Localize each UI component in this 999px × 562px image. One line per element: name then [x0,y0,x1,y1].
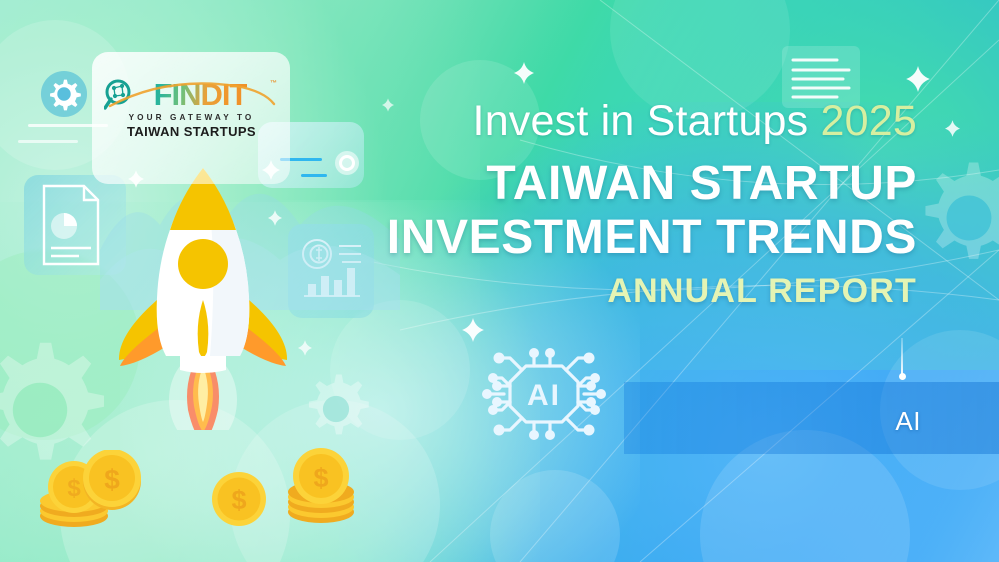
ai-chip-circuit-icon: AI [482,338,606,455]
sparkle-icon [268,210,282,226]
banner-canvas: $ $ $ $ [0,0,999,562]
coin-stack-right: $ [282,446,360,531]
ai-chip-label: AI [527,379,561,412]
decor-line [18,140,78,143]
gear-mid-left-icon [295,368,377,455]
coin-stack-left: $ $ [38,450,148,545]
magnifier-network-icon [104,79,138,111]
logo-tagline-top: YOUR GATEWAY TO [104,113,279,122]
gear-badge-top-left [40,70,88,123]
svg-text:$: $ [67,475,81,502]
sparkle-icon [906,66,930,92]
coin-single-center: $ [210,470,268,533]
headline-year: 2025 [821,97,917,145]
headline-block: Invest in Startups 2025 TAIWAN STARTUP I… [361,100,917,311]
ai-pointer-dot [899,373,906,380]
sparkle-icon [128,170,144,188]
sparkle-icon [945,120,960,137]
sparkle-icon [514,62,534,84]
headline-eyebrow: Invest in Startups [473,97,809,145]
gear-large-right-icon [903,152,999,289]
logo[interactable]: FINDIT ™ YOUR GATEWAY TO TAIWAN STARTUPS [104,78,279,140]
logo-trademark: ™ [270,80,277,87]
rocket-icon [112,160,294,435]
logo-name: FINDIT [136,77,248,113]
headline-eyebrow-row: Invest in Startups 2025 [361,100,917,143]
logo-wordmark: FINDIT ™ [104,78,279,112]
svg-text:$: $ [104,464,120,495]
sparkle-icon [262,160,280,180]
svg-text:$: $ [231,485,246,515]
headline-title-line-2: INVESTMENT TRENDS [361,211,917,265]
ai-pointer-line [901,338,903,374]
ai-strip[interactable] [624,382,999,454]
svg-text:$: $ [313,463,328,493]
ai-strip-label: AI [895,406,921,437]
headline-title-line-1: TAIWAN STARTUP [361,157,917,211]
document-pie-chart-icon [38,182,104,273]
headline-subtitle: ANNUAL REPORT [361,271,917,312]
sparkle-icon [462,318,484,342]
logo-tagline-bottom: TAIWAN STARTUPS [104,124,279,139]
sparkle-icon [298,340,312,356]
